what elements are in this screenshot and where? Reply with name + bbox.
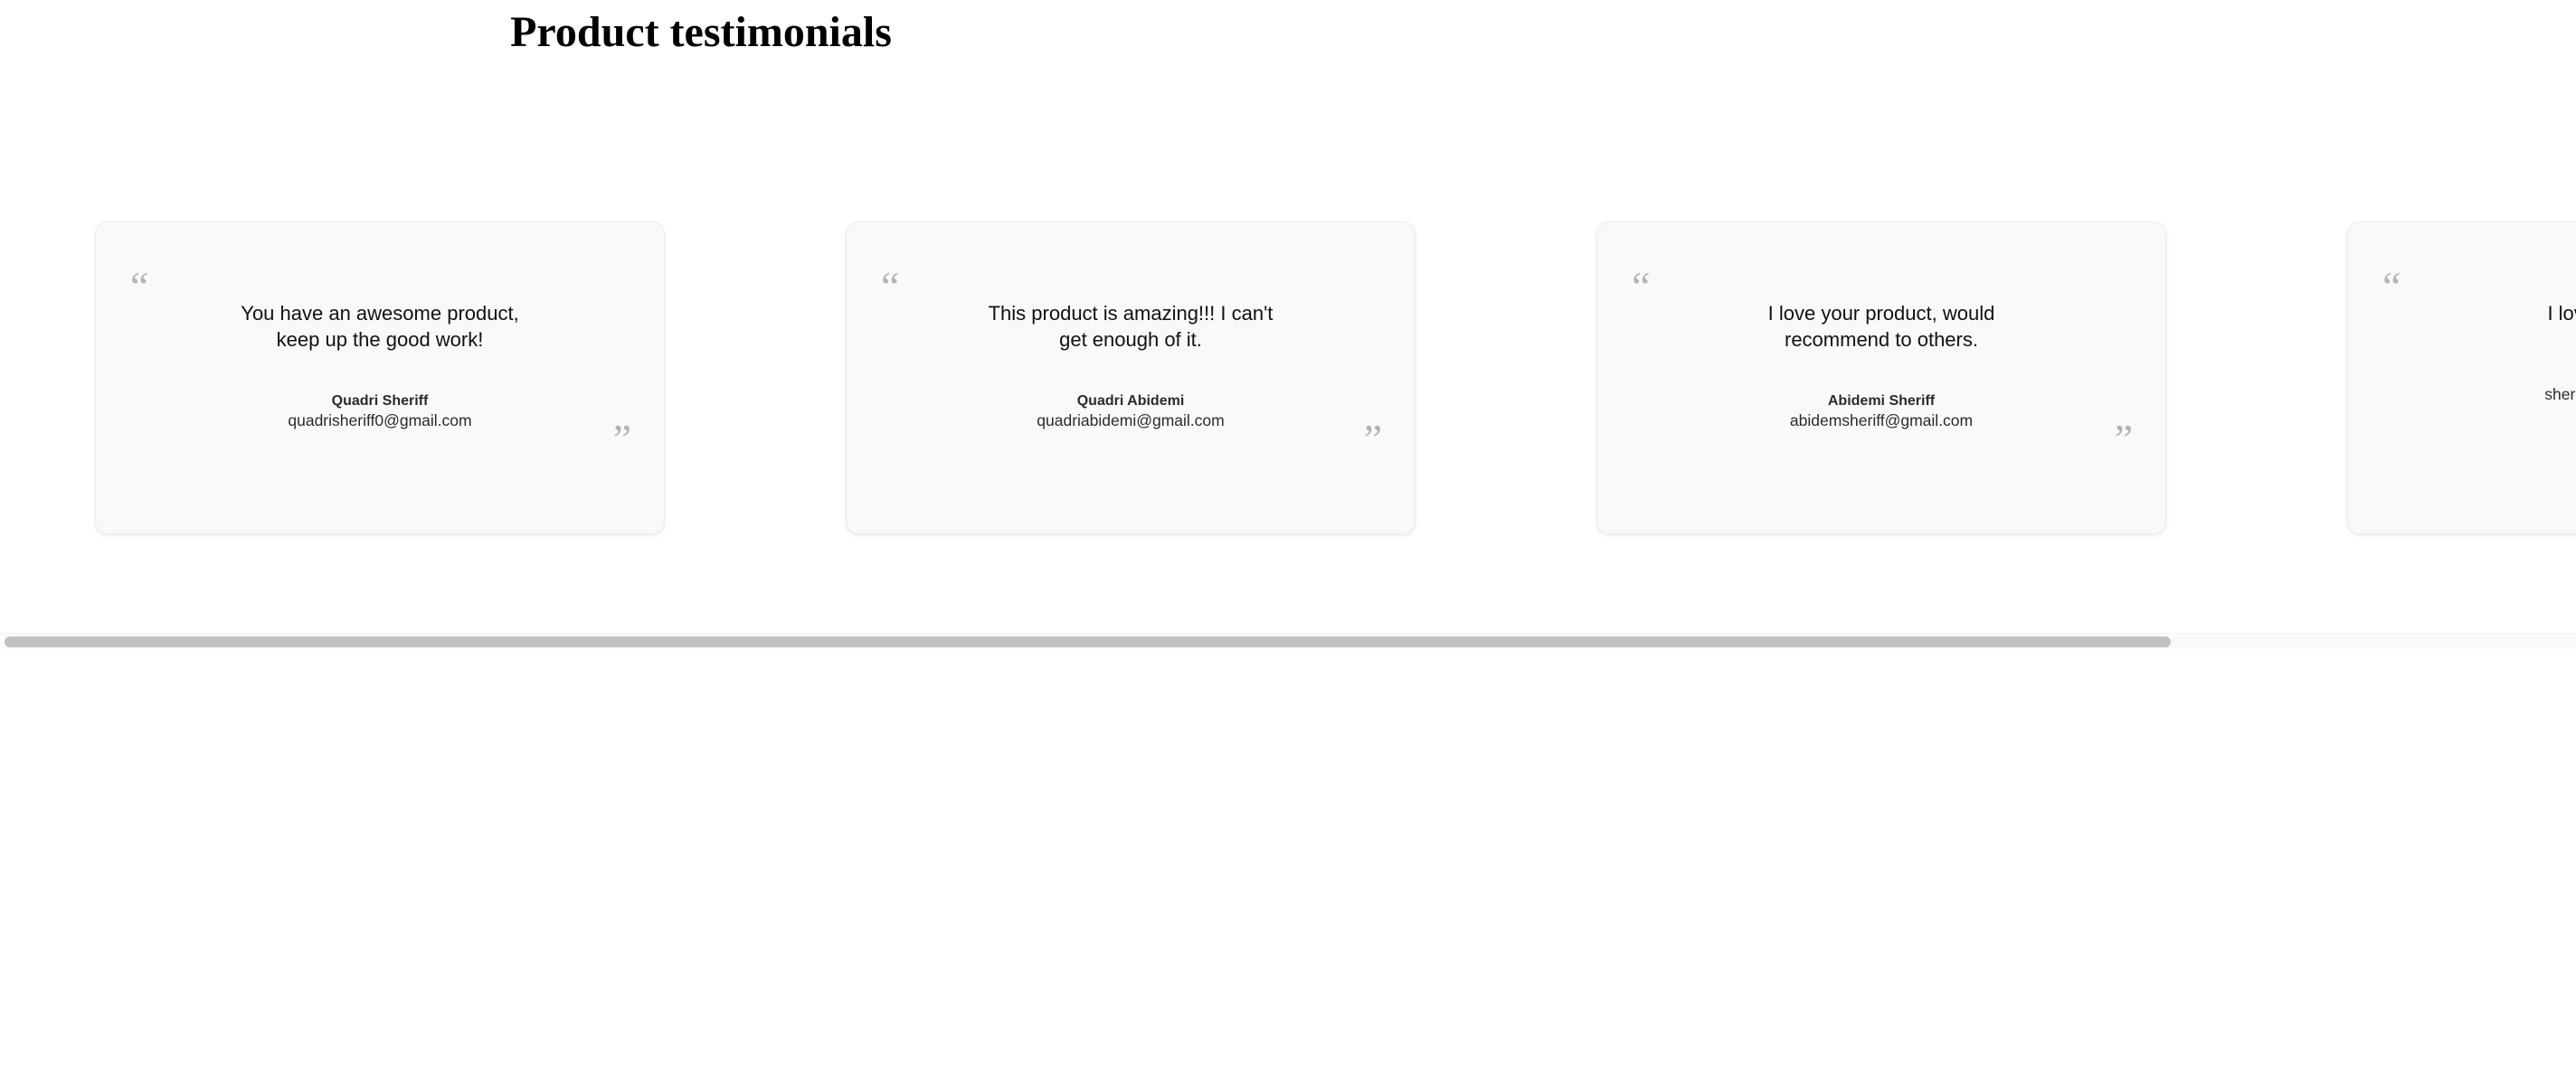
testimonial-carousel[interactable]: “ You have an awesome product, keep up t…: [0, 221, 2576, 633]
testimonial-card[interactable]: “ I love your product. ” Sheriff Abidemi…: [2347, 221, 2576, 534]
testimonial-card[interactable]: “ This product is amazing!!! I can't get…: [846, 221, 1416, 534]
quote-close-icon: ”: [1364, 428, 1382, 450]
quote-close-icon: ”: [2115, 428, 2133, 450]
testimonial-quote: I love your product, would recommend to …: [1639, 300, 2124, 353]
testimonial-author: Quadri Sheriff quadrisheriff0@gmail.com: [137, 392, 622, 430]
testimonial-card[interactable]: “ I love your product, would recommend t…: [1596, 221, 2166, 534]
quote-close-icon: ”: [613, 428, 631, 450]
testimonial-card[interactable]: “ You have an awesome product, keep up t…: [95, 221, 665, 534]
testimonial-quote: This product is amazing!!! I can't get e…: [888, 300, 1373, 353]
author-name: Quadri Sheriff: [137, 392, 622, 410]
testimonial-author: Sheriff Abidemi sheriffquadri@gmail.com: [2390, 366, 2576, 404]
quote-open-icon: “: [1632, 275, 1650, 297]
page-title: Product testimonials: [0, 0, 1402, 57]
testimonial-track: “ You have an awesome product, keep up t…: [0, 221, 2576, 583]
testimonial-author: Quadri Abidemi quadriabidemi@gmail.com: [888, 392, 1373, 430]
scrollbar-thumb[interactable]: [5, 636, 2171, 647]
author-email: quadrisheriff0@gmail.com: [137, 410, 622, 430]
author-email: abidemsheriff@gmail.com: [1639, 410, 2124, 430]
author-name: Quadri Abidemi: [888, 392, 1373, 410]
author-name: Abidemi Sheriff: [1639, 392, 2124, 410]
author-email: sheriffquadri@gmail.com: [2390, 384, 2576, 404]
author-name: Sheriff Abidemi: [2390, 366, 2576, 384]
testimonial-quote: You have an awesome product, keep up the…: [137, 300, 622, 353]
quote-open-icon: “: [881, 275, 899, 297]
horizontal-scrollbar[interactable]: [0, 633, 2576, 649]
quote-open-icon: “: [2382, 275, 2401, 297]
testimonial-author: Abidemi Sheriff abidemsheriff@gmail.com: [1639, 392, 2124, 430]
author-email: quadriabidemi@gmail.com: [888, 410, 1373, 430]
testimonial-quote: I love your product.: [2390, 300, 2576, 326]
quote-open-icon: “: [130, 275, 148, 297]
